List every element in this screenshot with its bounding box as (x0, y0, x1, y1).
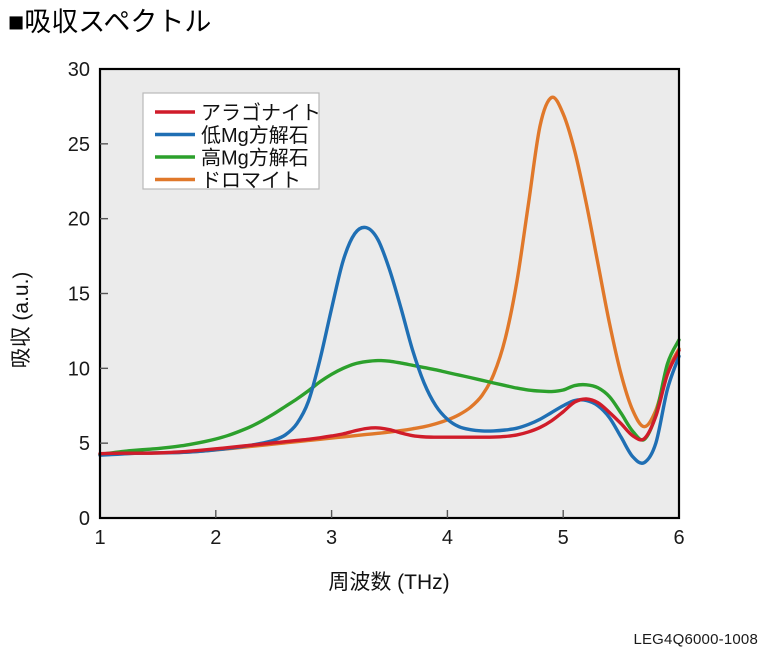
legend-label-4: ドロマイト (201, 170, 301, 192)
x-tick-label: 3 (326, 527, 337, 549)
y-tick-label: 15 (68, 284, 90, 306)
legend-label-1: アラゴナイト (201, 102, 321, 125)
absorption-spectrum-chart: 123456051015202530 周波数 (THz) 吸収 (a.u.) ア… (0, 0, 768, 660)
y-tick-label: 10 (68, 358, 90, 380)
y-tick-label: 25 (68, 134, 90, 156)
x-tick-label: 4 (442, 527, 453, 549)
y-tick-label: 5 (79, 433, 90, 455)
x-tick-label: 1 (94, 527, 105, 549)
watermark-code: LEG4Q6000-1008 (633, 631, 758, 648)
x-axis-label: 周波数 (THz) (328, 571, 449, 594)
y-tick-label: 0 (79, 508, 90, 530)
chart-svg: 123456051015202530 周波数 (THz) 吸収 (a.u.) ア… (0, 0, 768, 660)
x-tick-label: 5 (558, 527, 569, 549)
y-tick-label: 30 (68, 59, 90, 81)
y-axis-label: 吸収 (a.u.) (10, 272, 33, 369)
legend-label-3: 高Mg方解石 (201, 147, 309, 170)
x-tick-label: 6 (673, 527, 684, 549)
chart-legend: アラゴナイト低Mg方解石高Mg方解石ドロマイト (143, 93, 321, 192)
x-tick-label: 2 (210, 527, 221, 549)
legend-label-2: 低Mg方解石 (201, 124, 309, 147)
y-tick-label: 20 (68, 209, 90, 231)
